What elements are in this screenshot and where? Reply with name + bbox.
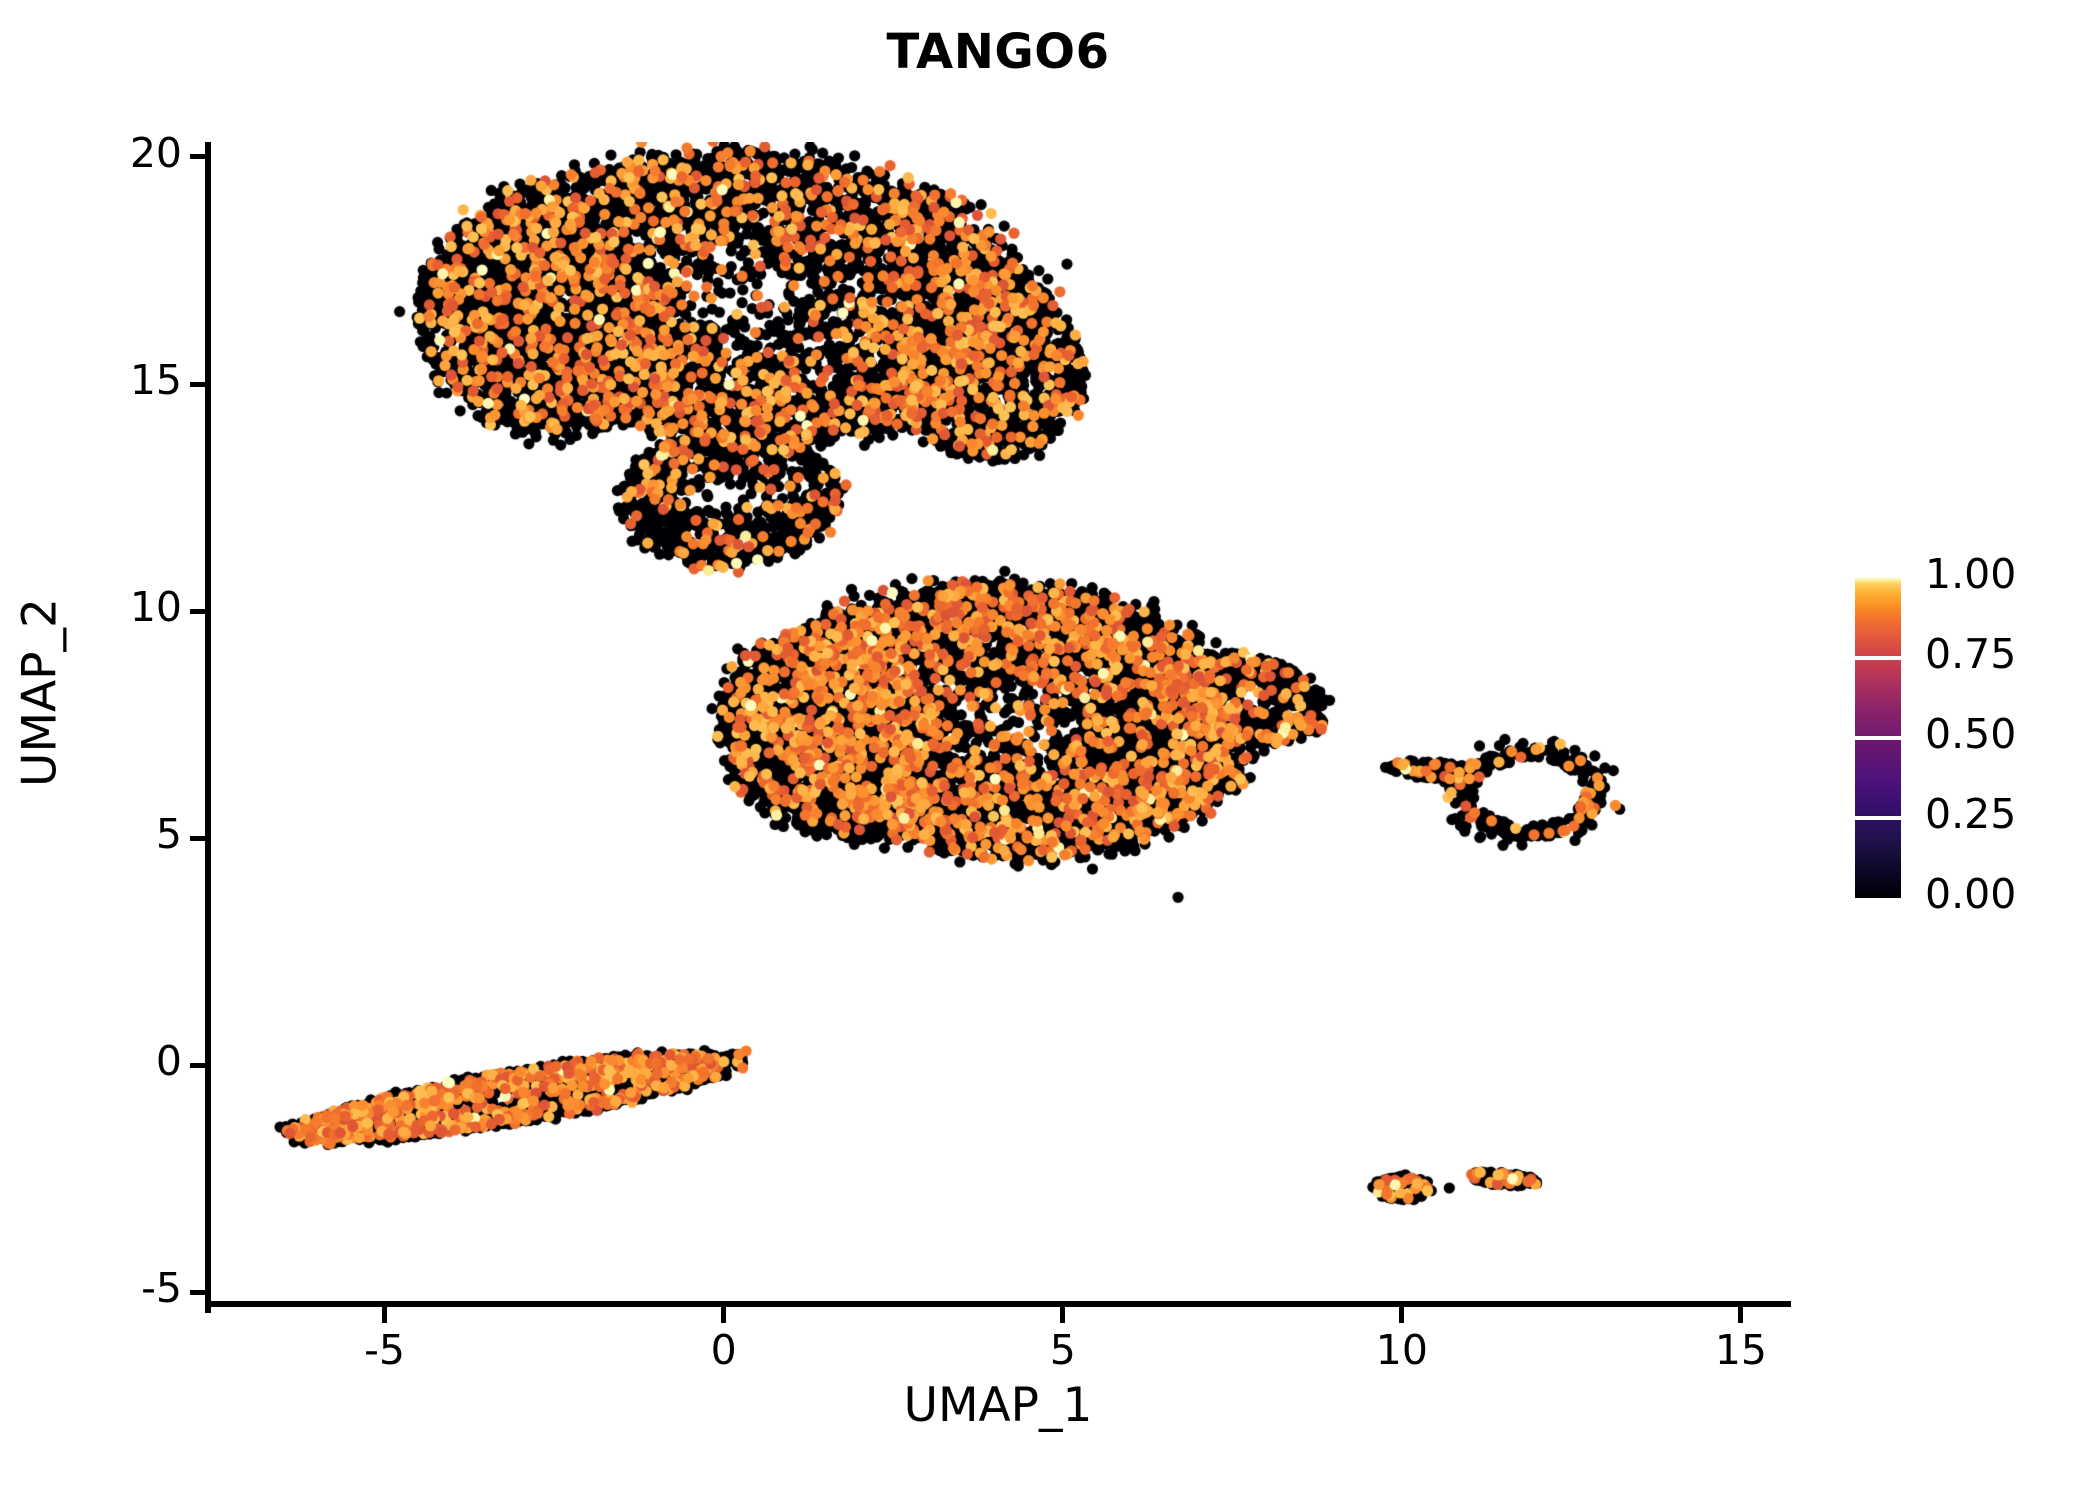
x-tick-label: 5 [963,1330,1163,1371]
y-tick-mark [190,836,206,841]
x-tick-mark [1399,1307,1404,1323]
scatter-points-canvas [211,142,1785,1307]
y-tick-mark [190,382,206,387]
colorbar-tick-label: 1.00 [1925,554,2016,595]
colorbar-tick-mark [1855,816,1901,820]
colorbar-tick-label: 0.50 [1925,714,2016,755]
y-tick-label: 10 [130,587,182,628]
y-tick-label: -5 [141,1268,182,1309]
x-tick-label: 10 [1302,1330,1502,1371]
x-tick-label: 0 [624,1330,824,1371]
y-axis-spine [205,142,211,1313]
colorbar-tick-mark [1855,656,1901,660]
x-tick-label: -5 [285,1330,485,1371]
y-tick-mark [190,609,206,614]
y-tick-mark [190,1290,206,1295]
y-tick-label: 5 [156,814,182,855]
x-tick-mark [1738,1307,1743,1323]
figure-canvas: TANGO6 -505101520 -5051015 UMAP_1 UMAP_2… [0,0,2100,1500]
y-tick-label: 15 [130,360,182,401]
x-tick-mark [1060,1307,1065,1323]
colorbar-tick-label: 0.25 [1925,794,2016,835]
x-axis-spine [211,1301,1791,1307]
y-tick-label: 20 [130,133,182,174]
y-tick-mark [190,154,206,159]
x-tick-mark [382,1307,387,1323]
y-axis-label: UMAP_2 [13,493,68,893]
colorbar-tick-mark [1855,736,1901,740]
chart-title: TANGO6 [0,24,1996,80]
x-tick-label: 15 [1641,1330,1841,1371]
x-tick-mark [721,1307,726,1323]
x-axis-label: UMAP_1 [211,1378,1785,1433]
y-tick-mark [190,1063,206,1068]
colorbar-tick-label: 0.75 [1925,634,2016,675]
y-tick-label: 0 [156,1041,182,1082]
colorbar-tick-label: 0.00 [1925,874,2016,915]
scatter-plot-area[interactable] [211,142,1785,1307]
